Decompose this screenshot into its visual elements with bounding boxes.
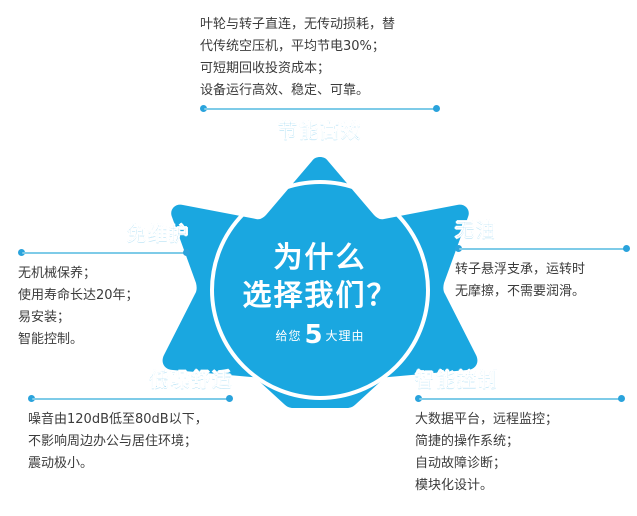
panel-smart-control: 智能控制 大数据平台，远程监控； 简捷的操作系统； 自动故障诊断； 模块化设计。	[415, 368, 625, 497]
panel-energy-efficient-line-2: 代传统空压机，平均节电30%；	[200, 36, 440, 58]
panel-low-noise-title-wrap: 低噪舒适	[28, 368, 233, 392]
panel-smart-control-line-1: 大数据平台，远程监控；	[415, 409, 625, 431]
center-sub-suffix: 大理由	[326, 329, 365, 343]
panel-maintenance-free-body: 无机械保养； 使用寿命长达20年； 易安装； 智能控制。	[18, 263, 190, 351]
panel-smart-control-line-2: 简捷的操作系统；	[415, 431, 625, 453]
panel-energy-efficient-title: 节能高效	[278, 120, 362, 142]
panel-maintenance-free-line-3: 易安装；	[18, 307, 190, 329]
panel-energy-efficient: 叶轮与转子直连，无传动损耗，替 代传统空压机，平均节电30%； 可短期回收投资成…	[200, 14, 440, 143]
panel-oil-free-divider	[455, 245, 630, 253]
panel-smart-control-body: 大数据平台，远程监控； 简捷的操作系统； 自动故障诊断； 模块化设计。	[415, 409, 625, 497]
panel-maintenance-free-line-1: 无机械保养；	[18, 263, 190, 285]
divider-bar	[204, 108, 436, 110]
panel-smart-control-title-wrap: 智能控制	[415, 368, 625, 392]
divider-dot-right-icon	[623, 245, 630, 252]
panel-maintenance-free-title-wrap: 免维护	[18, 222, 190, 246]
panel-energy-efficient-divider	[200, 105, 440, 113]
panel-maintenance-free-line-4: 智能控制。	[18, 329, 190, 351]
panel-oil-free: 无油 转子悬浮支承，运转时 无摩擦，不需要润滑。	[455, 218, 630, 303]
panel-smart-control-line-3: 自动故障诊断；	[415, 453, 625, 475]
panel-low-noise-body: 噪音由120dB低至80dB以下， 不影响周边办公与居住环境； 震动极小。	[28, 409, 233, 475]
divider-dot-right-icon	[226, 395, 233, 402]
panel-low-noise-title: 低噪舒适	[149, 369, 233, 391]
panel-energy-efficient-line-1: 叶轮与转子直连，无传动损耗，替	[200, 14, 440, 36]
panel-low-noise: 低噪舒适 噪音由120dB低至80dB以下， 不影响周边办公与居住环境； 震动极…	[28, 368, 233, 475]
panel-oil-free-title-wrap: 无油	[455, 218, 630, 242]
panel-low-noise-line-2: 不影响周边办公与居住环境；	[28, 431, 233, 453]
panel-oil-free-title: 无油	[455, 219, 497, 241]
infographic-canvas: 为什么 选择我们？ 给您5大理由 叶轮与转子直连，无传动损耗，替 代传统空压机，…	[0, 0, 637, 516]
panel-oil-free-line-1: 转子悬浮支承，运转时	[455, 259, 630, 281]
divider-dot-right-icon	[183, 249, 190, 256]
panel-oil-free-body: 转子悬浮支承，运转时 无摩擦，不需要润滑。	[455, 259, 630, 303]
panel-energy-efficient-line-3: 可短期回收投资成本；	[200, 58, 440, 80]
center-subline: 给您5大理由	[210, 320, 430, 350]
panel-energy-efficient-line-4: 设备运行高效、稳定、可靠。	[200, 80, 440, 102]
center-headline-block: 为什么 选择我们？ 给您5大理由	[210, 238, 430, 350]
panel-energy-efficient-title-wrap: 节能高效	[200, 119, 440, 143]
panel-smart-control-title: 智能控制	[415, 369, 499, 391]
center-sub-number: 5	[304, 320, 322, 350]
panel-smart-control-divider	[415, 395, 625, 403]
panel-maintenance-free: 免维护 无机械保养； 使用寿命长达20年； 易安装； 智能控制。	[18, 222, 190, 351]
panel-maintenance-free-title: 免维护	[127, 223, 190, 245]
panel-low-noise-line-3: 震动极小。	[28, 453, 233, 475]
divider-bar	[459, 248, 626, 250]
divider-dot-right-icon	[618, 395, 625, 402]
panel-oil-free-line-2: 无摩擦，不需要润滑。	[455, 281, 630, 303]
panel-smart-control-line-4: 模块化设计。	[415, 475, 625, 497]
divider-bar	[419, 398, 621, 400]
divider-bar	[32, 398, 229, 400]
divider-dot-right-icon	[433, 105, 440, 112]
divider-bar	[22, 252, 186, 254]
panel-maintenance-free-divider	[18, 249, 190, 257]
panel-maintenance-free-line-2: 使用寿命长达20年；	[18, 285, 190, 307]
center-headline-line1: 为什么	[210, 238, 430, 276]
panel-low-noise-line-1: 噪音由120dB低至80dB以下，	[28, 409, 233, 431]
center-sub-prefix: 给您	[275, 329, 301, 343]
center-headline-line2: 选择我们？	[210, 276, 430, 314]
panel-energy-efficient-body: 叶轮与转子直连，无传动损耗，替 代传统空压机，平均节电30%； 可短期回收投资成…	[200, 14, 440, 102]
panel-low-noise-divider	[28, 395, 233, 403]
